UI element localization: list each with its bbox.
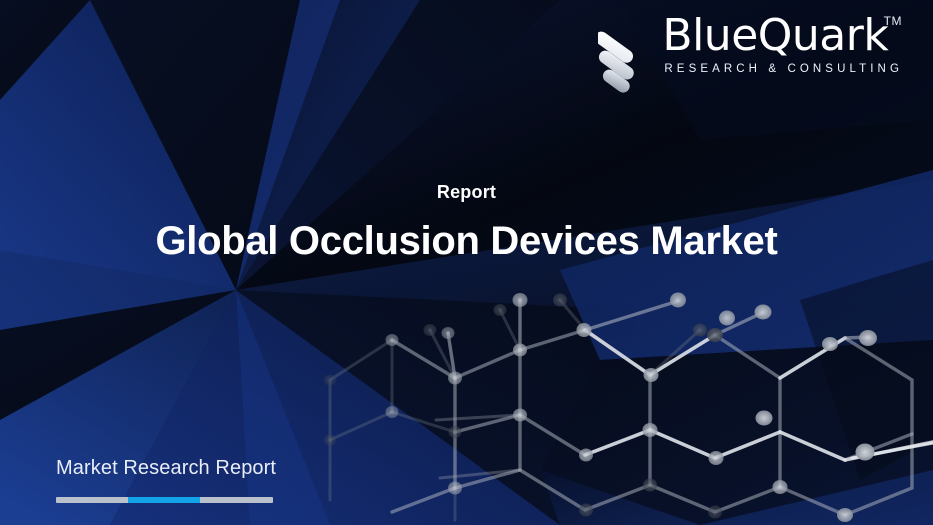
brand-wordmark: BlueQuark [662, 14, 903, 58]
bluequark-double-chevron-icon [598, 22, 654, 96]
brand-tagline: RESEARCH & CONSULTING [662, 63, 903, 75]
report-kind-label: Report [0, 182, 933, 203]
accent-bar [56, 497, 273, 503]
report-cover: TM [0, 0, 933, 525]
accent-bar-segment-left [56, 497, 128, 503]
accent-bar-segment-right [200, 497, 273, 503]
title-block: Report Global Occlusion Devices Market [0, 182, 933, 264]
page-title: Global Occlusion Devices Market [0, 219, 933, 264]
footer-subtitle: Market Research Report [56, 457, 276, 480]
trademark-symbol: TM [884, 14, 902, 28]
footer-block: Market Research Report [56, 457, 276, 503]
accent-bar-segment-mid [128, 497, 200, 503]
brand-logo: BlueQuark RESEARCH & CONSULTING [598, 14, 903, 96]
